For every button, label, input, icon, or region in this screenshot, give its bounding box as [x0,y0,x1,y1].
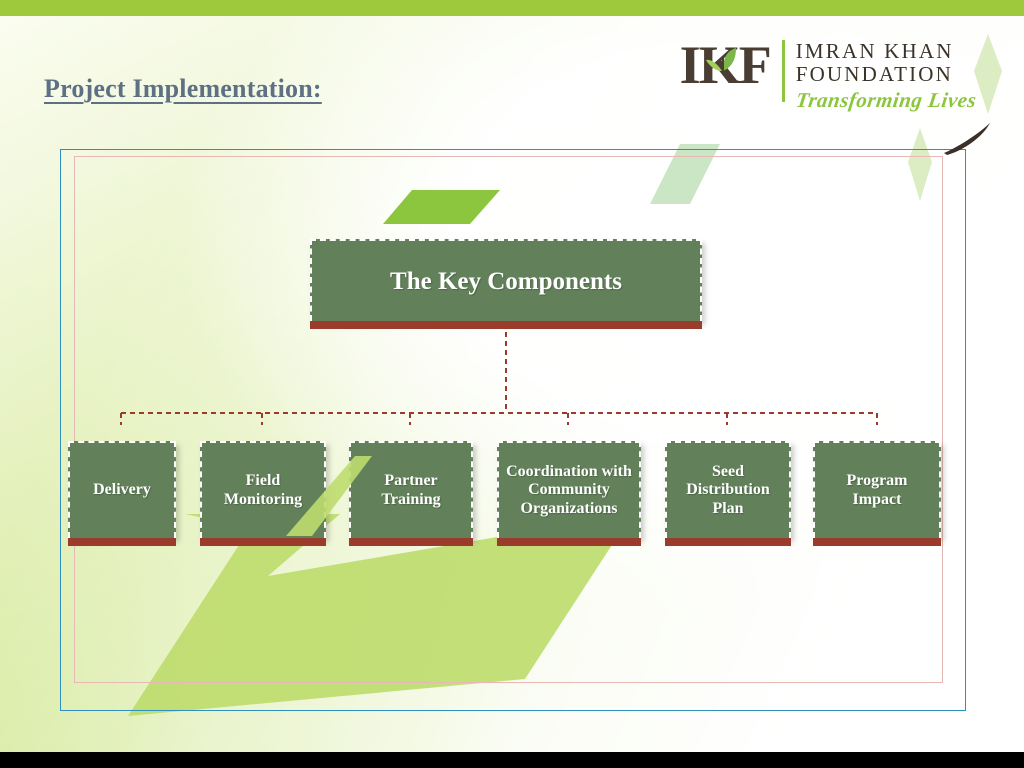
ikf-logo: IKF IMRAN KHAN FOUNDATION Transforming L… [680,38,976,113]
green-wedge-mid [286,456,372,536]
logo-tagline: Transforming Lives [794,88,978,113]
logo-wordmark: IMRAN KHAN FOUNDATION Transforming Lives [796,38,976,113]
top-accent-bar [0,0,1024,16]
logo-divider [782,40,785,102]
logo-name-line-1: IMRAN KHAN [796,40,976,63]
leaf-icon [706,28,742,82]
foreground-decor-layer [0,16,1024,752]
page-title: Project Implementation: [44,74,322,104]
swoosh-icon [942,122,994,161]
slide-canvas: The Key Components Delivery Field Monito… [0,16,1024,752]
green-parallelogram-top [383,190,500,224]
bottom-black-bar [0,752,1024,768]
logo-monogram: IKF [680,38,776,92]
logo-name-line-2: FOUNDATION [796,63,976,86]
slide-root: The Key Components Delivery Field Monito… [0,0,1024,768]
